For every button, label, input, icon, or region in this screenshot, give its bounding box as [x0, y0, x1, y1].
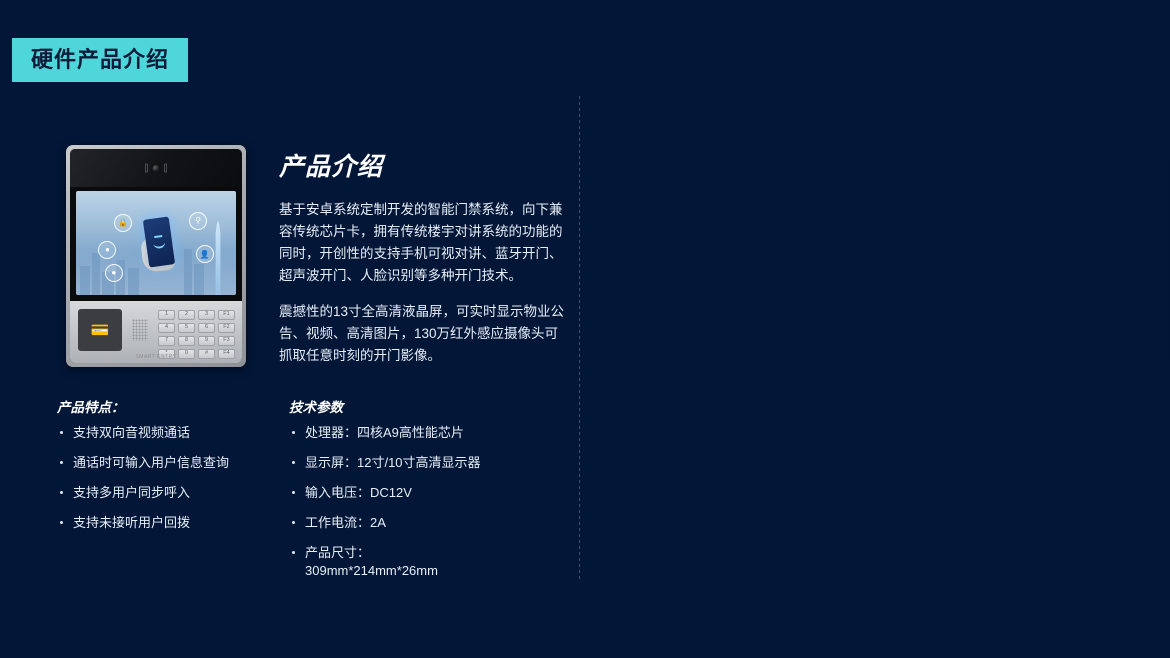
- left-intro-paragraph: 基于安卓系统定制开发的智能门禁系统，向下兼容传统芯片卡，拥有传统楼宇对讲系统的功…: [279, 199, 569, 287]
- keypad-key: 2: [178, 310, 195, 320]
- smartphone-illustration: [143, 216, 175, 267]
- user-icon: 👤: [196, 245, 214, 263]
- skyline-building: [184, 249, 192, 295]
- device-screen-frame: 🔒 ● ● ⚲ 👤: [70, 187, 242, 301]
- left-intro-paragraph: 震撼性的13寸全高清液晶屏，可实时显示物业公告、视频、高清图片，130万红外感应…: [279, 301, 569, 367]
- left-product-features: 产品特点： 支持双向音视频通话 通话时可输入用户信息查询 支持多用户同步呼入 支…: [57, 396, 267, 544]
- skyline-building: [92, 253, 100, 295]
- rfid-card-icon: 💳: [78, 309, 122, 351]
- keypad-key: 1: [158, 310, 175, 320]
- device-screen: 🔒 ● ● ⚲ 👤: [76, 191, 236, 295]
- device-bottom-panel: 💳 1 2 3 F1 4 5 6 F2 7 8 9 F3: [70, 301, 242, 363]
- keypad-key: F1: [218, 310, 235, 320]
- left-product-panel: 🔒 ● ● ⚲ 👤 💳 1 2 3: [0, 0, 579, 658]
- left-specs-heading: 技术参数: [289, 396, 539, 416]
- skyline-building: [128, 268, 139, 295]
- left-product-intro: 产品介绍 基于安卓系统定制开发的智能门禁系统，向下兼容传统芯片卡，拥有传统楼宇对…: [279, 147, 569, 367]
- left-features-heading: 产品特点：: [57, 396, 267, 416]
- device-bezel: 🔒 ● ● ⚲ 👤 💳 1 2 3: [66, 145, 246, 367]
- location-pin-icon: ●: [105, 264, 123, 282]
- list-item: 通话时可输入用户信息查询: [57, 454, 267, 472]
- left-intro-heading: 产品介绍: [279, 147, 569, 183]
- key-icon: ⚲: [189, 212, 207, 230]
- keypad-key: 3: [198, 310, 215, 320]
- device-body: 🔒 ● ● ⚲ 👤 💳 1 2 3: [70, 149, 242, 363]
- left-specs-list: 处理器：四核A9高性能芯片 显示屏：12寸/10寸高清显示器 输入电压：DC12…: [289, 424, 539, 580]
- keypad-key: 0: [178, 349, 195, 359]
- camera-lens-icon: [153, 165, 160, 172]
- left-product-specs: 技术参数 处理器：四核A9高性能芯片 显示屏：12寸/10寸高清显示器 输入电压…: [289, 396, 539, 592]
- camera-icon: [145, 164, 167, 173]
- lock-icon: 🔒: [114, 214, 132, 232]
- right-product-panel: 中国移动 ♢ ▲ ● 4:09 PM 100% AQ: [579, 0, 1170, 658]
- keypad-key: 4: [158, 323, 175, 333]
- skyline-building: [194, 264, 204, 295]
- keypad-key: 6: [198, 323, 215, 333]
- access-control-device-image: 🔒 ● ● ⚲ 👤 💳 1 2 3: [66, 145, 246, 367]
- device-brand-label: SMART ENTRY: [135, 354, 176, 360]
- keypad-key: #: [198, 349, 215, 359]
- keypad-key: 9: [198, 336, 215, 346]
- left-intro-body: 基于安卓系统定制开发的智能门禁系统，向下兼容传统芯片卡，拥有传统楼宇对讲系统的功…: [279, 199, 569, 367]
- list-item: 支持双向音视频通话: [57, 424, 267, 442]
- speaker-grille: [132, 319, 148, 341]
- keypad-key: 7: [158, 336, 175, 346]
- keypad-key: 5: [178, 323, 195, 333]
- list-item: 支持未接听用户回拨: [57, 514, 267, 532]
- left-features-list: 支持双向音视频通话 通话时可输入用户信息查询 支持多用户同步呼入 支持未接听用户…: [57, 424, 267, 532]
- list-item: 产品尺寸： 309mm*214mm*26mm: [289, 544, 539, 580]
- keypad-key: F3: [218, 336, 235, 346]
- keypad-key: 8: [178, 336, 195, 346]
- list-item: 输入电压：DC12V: [289, 484, 539, 502]
- list-item: 处理器：四核A9高性能芯片: [289, 424, 539, 442]
- device-keypad: 1 2 3 F1 4 5 6 F2 7 8 9 F3 * 0 #: [158, 310, 235, 359]
- keypad-key: F2: [218, 323, 235, 333]
- device-top-panel: [70, 149, 242, 187]
- list-item: 显示屏：12寸/10寸高清显示器: [289, 454, 539, 472]
- list-item: 支持多用户同步呼入: [57, 484, 267, 502]
- list-item: 工作电流：2A: [289, 514, 539, 532]
- keypad-key: F4: [218, 349, 235, 359]
- skyline-building: [80, 266, 90, 295]
